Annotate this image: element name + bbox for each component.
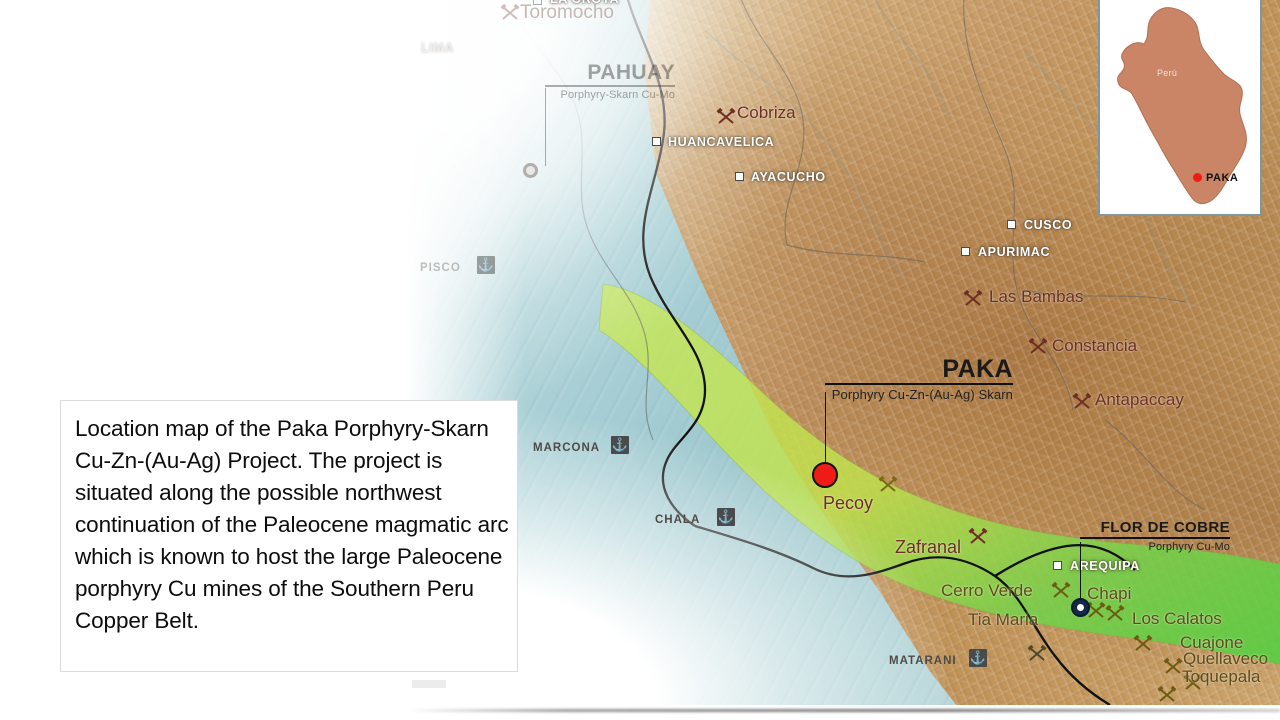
inset-paka-label: PAKA [1206,172,1238,184]
city-label-lima: LIMA [421,41,454,55]
mine-label-antapaccay: Antapaccay [1095,390,1184,410]
anchor-icon-matarani: ⚓ [969,649,987,667]
mine-label-pecoy: Pecoy [823,493,873,514]
city-label-cusco: CUSCO [1024,218,1072,232]
port-label-chala: CHALA [655,514,700,526]
callout-flor-de-cobre-title: FLOR DE COBRE [1080,520,1230,536]
mine-label-cerro-verde: Cerro Verde [941,581,1033,601]
callout-paka-title: PAKA [825,356,1013,382]
city-marker-ayacucho [735,172,744,181]
port-label-marcona: MARCONA [533,442,600,454]
callout-flor-de-cobre: FLOR DE COBRE Porphyry Cu-Mo [1080,520,1230,553]
callout-flor-de-cobre-rule [1080,537,1230,539]
city-label-ayacucho: AYACUCHO [751,170,826,184]
mine-label-zafranal: Zafranal [895,537,961,558]
mine-label-tia-maria: Tia Maria [968,610,1038,630]
anchor-icon-marcona: ⚓ [611,436,629,454]
port-label-pisco: PISCO [420,262,461,274]
port-label-matarani: MATARANI [889,655,957,667]
anchor-icon-chala: ⚓ [717,508,735,526]
inset-country-label: Perú [1157,68,1177,78]
city-label-huancavelica: HUANCAVELICA [668,135,774,149]
callout-pahuay: PAHUAY Porphyry-Skarn Cu-Mo [545,62,675,101]
slide-bottom-edge [408,709,1280,712]
mine-label-toquepala: Toquepala [1182,667,1260,687]
project-marker-pahuay [523,163,538,178]
mine-label-cobriza: Cobriza [737,103,796,123]
city-label-apurimac: APURIMAC [978,245,1050,259]
inset-paka-dot [1193,173,1202,182]
mine-label-los-calatos: Los Calatos [1132,609,1222,629]
callout-paka: PAKA Porphyry Cu-Zn-(Au-Ag) Skarn [825,356,1013,402]
slide-canvas: LA OROYA LIMA HUANCAVELICA AYACUCHO CUSC… [0,0,1280,720]
callout-pahuay-title: PAHUAY [545,62,675,84]
mine-label-constancia: Constancia [1052,336,1137,356]
callout-paka-leader-line [825,392,826,464]
project-marker-flor-de-cobre [1071,598,1090,617]
project-marker-paka [812,462,838,488]
callout-pahuay-rule [545,85,675,87]
city-marker-huancavelica [652,137,661,146]
callout-flor-de-cobre-subtitle: Porphyry Cu-Mo [1080,541,1230,553]
callout-paka-rule [825,383,1013,385]
mine-label-las-bambas: Las Bambas [989,287,1084,307]
city-marker-cusco [1007,220,1016,229]
mine-label-quellaveco: Quellaveco [1183,649,1268,669]
city-marker-arequipa [1053,561,1062,570]
callout-pahuay-subtitle: Porphyry-Skarn Cu-Mo [545,89,675,101]
city-marker-apurimac [961,247,970,256]
callout-paka-subtitle: Porphyry Cu-Zn-(Au-Ag) Skarn [825,387,1013,402]
mine-label-chapi: Chapi [1087,584,1131,604]
mine-label-toromocho: Toromocho [520,2,614,24]
anchor-icon-pisco: ⚓ [477,256,495,274]
caption-panel: Location map of the Paka Porphyry-Skarn … [60,400,518,672]
callout-pahuay-leader-line [545,88,546,166]
caption-text: Location map of the Paka Porphyry-Skarn … [75,413,513,637]
peru-inset-map: Perú PAKA [1098,0,1262,216]
